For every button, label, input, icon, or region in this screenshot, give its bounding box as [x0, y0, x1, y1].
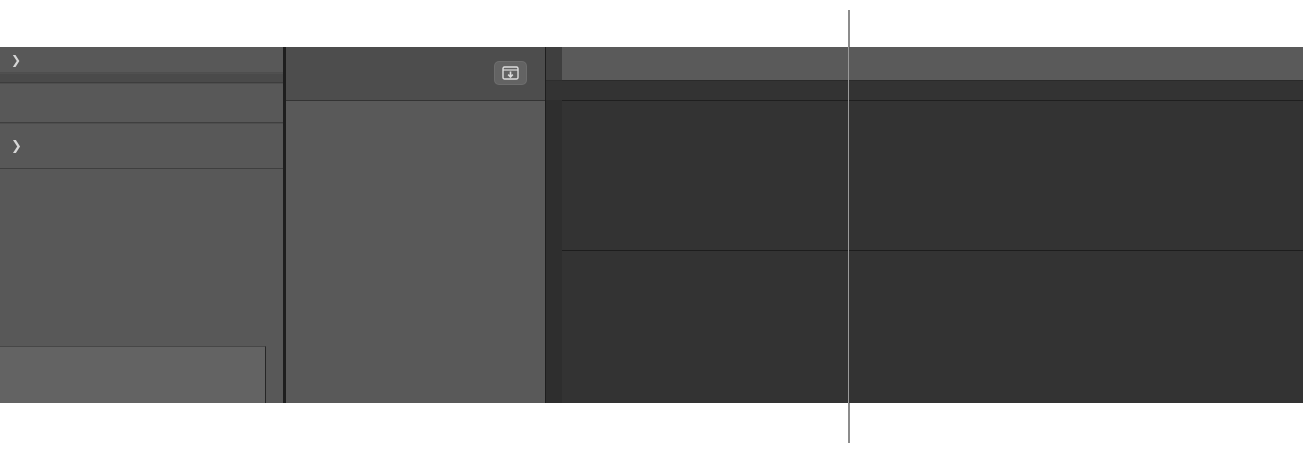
mainlane-row[interactable]: ❯	[0, 123, 283, 169]
top-margin	[0, 0, 1303, 47]
ruler-tick-marks[interactable]	[546, 81, 1303, 101]
mainset-row[interactable]	[0, 83, 283, 123]
chevron-down-icon[interactable]: ❯	[11, 138, 22, 154]
lane-unframed-events[interactable]	[546, 251, 1303, 403]
inspector-divider	[0, 73, 283, 83]
automation-editor-area[interactable]	[546, 47, 1303, 403]
logic-automation-editor: ❯ ❯	[0, 47, 1303, 403]
bottom-margin	[0, 403, 1303, 471]
grid-settings-panel	[0, 346, 266, 403]
ruler-bar-numbers[interactable]	[546, 47, 1303, 81]
import-download-icon[interactable]	[494, 61, 527, 85]
inspector-panel: ❯ ❯	[0, 47, 283, 403]
track-header-column	[286, 47, 545, 403]
chevron-right-icon: ❯	[11, 53, 21, 67]
track-header	[286, 47, 545, 101]
editor-left-gutter	[546, 47, 562, 403]
inspector-more-row[interactable]: ❯	[0, 47, 283, 73]
callout-leader-top	[848, 10, 850, 47]
lane-framed-events[interactable]	[546, 101, 1303, 251]
playhead[interactable]	[848, 47, 849, 403]
callout-leader-bottom	[848, 403, 850, 443]
